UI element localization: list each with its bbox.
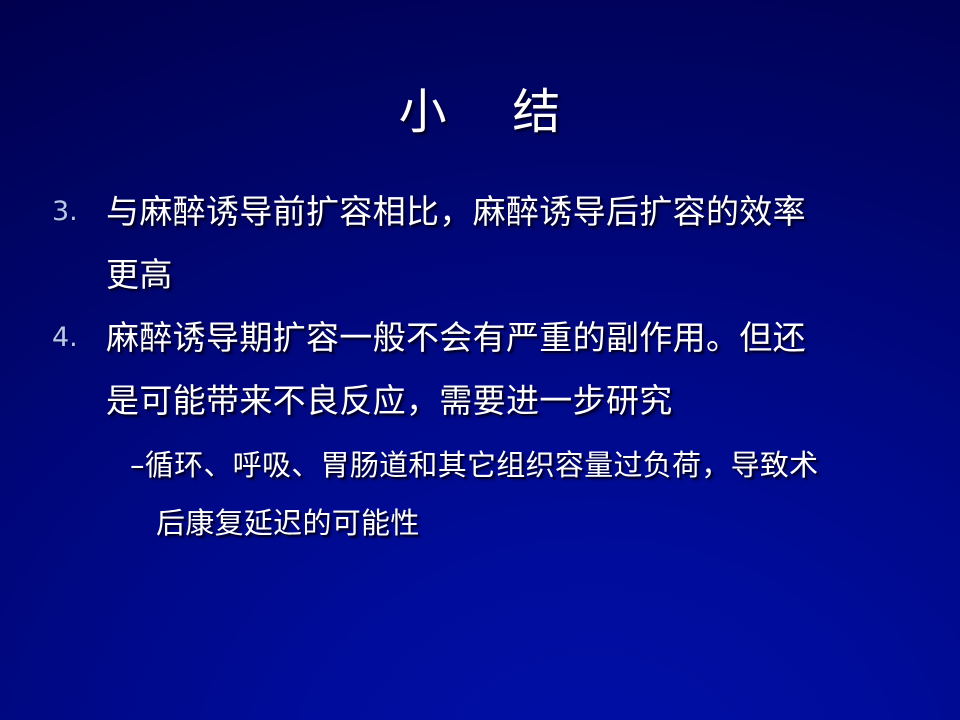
dash-icon: – (130, 448, 145, 482)
text-line-content: 循环、呼吸、胃肠道和其它组织容量过负荷，导致术 (145, 448, 819, 482)
text-line: 后康复延迟的可能性 (130, 494, 928, 552)
text-line: –循环、呼吸、胃肠道和其它组织容量过负荷，导致术 (130, 436, 928, 494)
list-item-marker: 3. (52, 180, 106, 243)
text-line: 与麻醉诱导前扩容相比，麻醉诱导后扩容的效率 (106, 180, 930, 243)
text-line: 麻醉诱导期扩容一般不会有严重的副作用。但还 (106, 306, 930, 369)
list-item: 4. 麻醉诱导期扩容一般不会有严重的副作用。但还 是可能带来不良反应，需要进一步… (0, 306, 960, 432)
sub-list-item: –循环、呼吸、胃肠道和其它组织容量过负荷，导致术 后康复延迟的可能性 (0, 436, 960, 552)
slide-body: 3. 与麻醉诱导前扩容相比，麻醉诱导后扩容的效率 更高 4. 麻醉诱导期扩容一般… (0, 180, 960, 552)
page-title: 小 结 (399, 84, 562, 140)
list-item-text: 与麻醉诱导前扩容相比，麻醉诱导后扩容的效率 更高 (106, 180, 930, 306)
list-item-text: 麻醉诱导期扩容一般不会有严重的副作用。但还 是可能带来不良反应，需要进一步研究 (106, 306, 930, 432)
presentation-slide: 小 结 3. 与麻醉诱导前扩容相比，麻醉诱导后扩容的效率 更高 4. 麻醉诱导期… (0, 0, 960, 720)
sub-list-item-text: –循环、呼吸、胃肠道和其它组织容量过负荷，导致术 后康复延迟的可能性 (130, 436, 928, 552)
text-line: 是可能带来不良反应，需要进一步研究 (106, 369, 930, 432)
text-line: 更高 (106, 243, 930, 306)
list-item: 3. 与麻醉诱导前扩容相比，麻醉诱导后扩容的效率 更高 (0, 180, 960, 306)
list-item-marker: 4. (52, 306, 106, 369)
slide-title-area: 小 结 (0, 52, 960, 172)
